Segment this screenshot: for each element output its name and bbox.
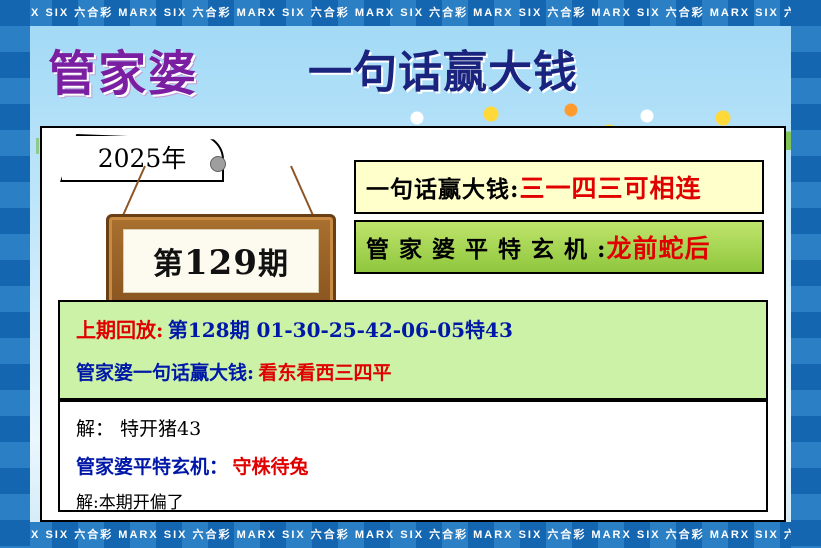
prediction-row-yellow: 一句话赢大钱: 三一四三可相连 [354, 160, 764, 214]
answer-box: 解： 特开猪43 管家婆平特玄机： 守株待兔 解:本期开偏了 [58, 400, 768, 512]
answer-line-3: 解:本期开偏了 [76, 488, 184, 513]
hanging-sign: 第129期 [100, 156, 340, 306]
prediction-value-1: 三一四三可相连 [520, 169, 702, 205]
issue-suffix: 期 [258, 247, 289, 282]
prediction-label-1: 一句话赢大钱: [366, 170, 520, 204]
page-header: 管家婆 一句话赢大钱 [40, 34, 740, 94]
issue-number: 129 [184, 243, 258, 283]
answer-line2-label: 管家婆平特玄机： [76, 456, 228, 478]
replay-line2-value: 看东看西三四平 [258, 362, 391, 384]
answer-line-1: 解： 特开猪43 [76, 414, 201, 441]
bottom-decor-bar: MARX SIX 六合彩 MARX SIX 六合彩 MARX SIX 六合彩 M… [0, 522, 821, 548]
replay-box: 上期回放: 第128期 01-30-25-42-06-05特43 管家婆一句话赢… [58, 300, 768, 400]
left-decor-strip: MARX SIX 六合彩 MARX SIX 六合彩 MARX SIX 六合彩 M… [0, 0, 30, 548]
answer-line2-value: 守株待兔 [232, 456, 308, 478]
main-panel: 2025年 第129期 一句话赢大钱: 三一四三可相连 管 家 婆 平 特 玄 … [40, 126, 786, 522]
sign-board: 第129期 [106, 214, 336, 308]
issue-text: 第129期 [153, 239, 289, 283]
replay-line-2: 管家婆一句话赢大钱: 看东看西三四平 [76, 358, 391, 385]
replay-content: 第128期 01-30-25-42-06-05特43 [168, 318, 513, 342]
nail-icon [210, 156, 226, 172]
replay-line-1: 上期回放: 第128期 01-30-25-42-06-05特43 [76, 314, 513, 343]
issue-prefix: 第 [153, 247, 184, 282]
sign-board-inner: 第129期 [123, 229, 319, 293]
prediction-value-2: 龙前蛇后 [607, 229, 711, 265]
prediction-row-green: 管 家 婆 平 特 玄 机 : 龙前蛇后 [354, 220, 764, 274]
answer-line-2: 管家婆平特玄机： 守株待兔 [76, 452, 308, 479]
right-decor-strip: MARX SIX 六合彩 MARX SIX 六合彩 MARX SIX 六合彩 M… [791, 0, 821, 548]
page-slogan: 一句话赢大钱 [308, 36, 578, 100]
prediction-label-2: 管 家 婆 平 特 玄 机 : [366, 230, 607, 264]
top-decor-bar: MARX SIX 六合彩 MARX SIX 六合彩 MARX SIX 六合彩 M… [0, 0, 821, 26]
brand-title: 管家婆 [48, 34, 198, 104]
replay-line2-label: 管家婆一句话赢大钱: [76, 362, 254, 384]
replay-title: 上期回放: [76, 318, 163, 342]
